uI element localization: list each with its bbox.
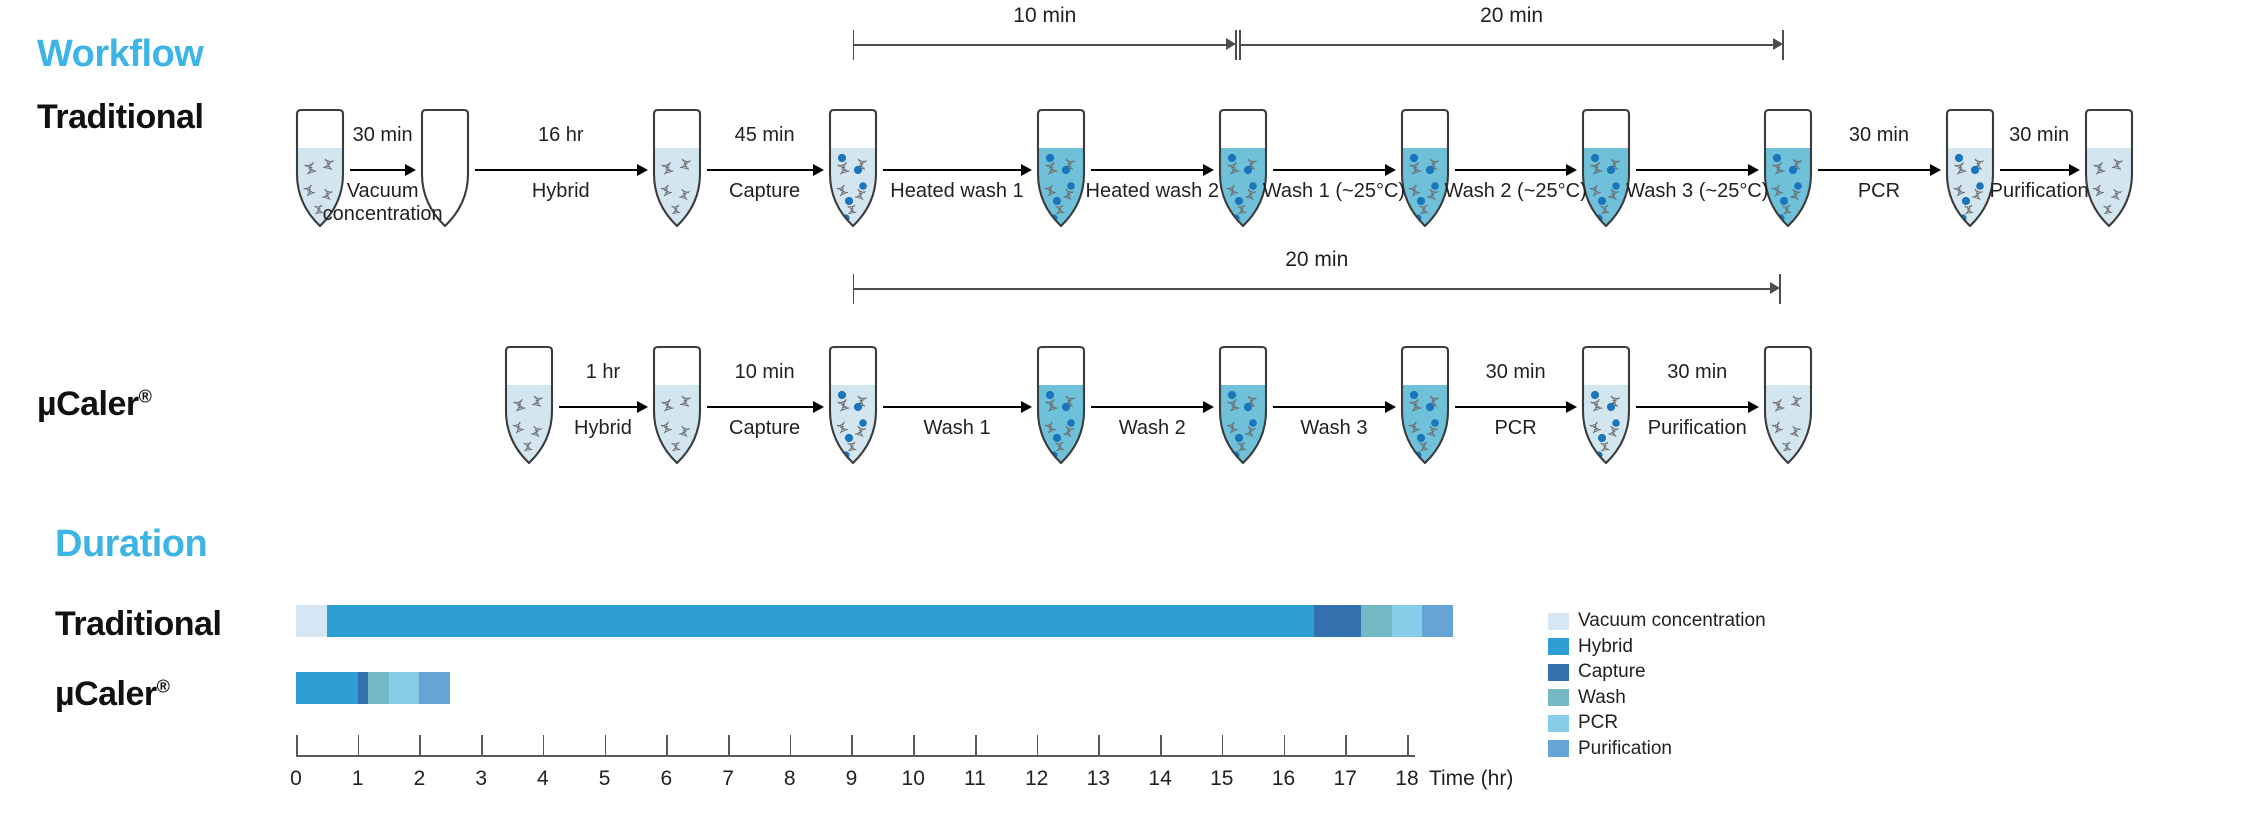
- axis-tick-10: [913, 735, 915, 755]
- axis-label-2: 2: [397, 767, 441, 791]
- legend-item-purification: Purification: [1548, 738, 1672, 760]
- axis-tick-4: [543, 735, 545, 755]
- arrow-traditional-3: [883, 164, 1032, 176]
- gantt-segment-capture: [358, 672, 368, 704]
- legend-item-hybrid: Hybrid: [1548, 636, 1633, 658]
- gantt-bar-traditional: [296, 605, 1453, 637]
- legend-swatch: [1548, 664, 1569, 681]
- steptime-traditional-1: 16 hr: [461, 124, 661, 147]
- stepname-traditional-9: Purification: [1924, 180, 2154, 203]
- gantt-segment-pcr: [1392, 605, 1423, 637]
- time-axis-line: [296, 755, 1415, 757]
- arrow-ucaler-5: [1455, 401, 1577, 413]
- gantt-segment-purification: [1422, 605, 1453, 637]
- legend-label: Wash: [1578, 687, 1626, 709]
- axis-tick-1: [358, 735, 360, 755]
- axis-label-5: 5: [583, 767, 627, 791]
- steptime-traditional-0: 30 min: [283, 124, 483, 147]
- axis-tick-7: [728, 735, 730, 755]
- legend-label: PCR: [1578, 712, 1618, 734]
- arrow-ucaler-0: [559, 401, 646, 413]
- axis-tick-0: [296, 735, 298, 755]
- bracket-label: 20 min: [1239, 4, 1784, 28]
- legend-item-capture: Capture: [1548, 661, 1646, 683]
- axis-label-7: 7: [706, 767, 750, 791]
- legend-swatch: [1548, 740, 1569, 757]
- legend-label: Hybrid: [1578, 636, 1633, 658]
- gantt-segment-wash: [368, 672, 388, 704]
- bracket-traditional-20min: 20 min: [1239, 28, 1784, 62]
- axis-label-16: 16: [1262, 767, 1306, 791]
- duration-section-title: Duration: [55, 523, 207, 566]
- registered-mark: ®: [157, 677, 170, 697]
- gantt-bar-ucaler: [296, 672, 450, 704]
- axis-tick-17: [1345, 735, 1347, 755]
- legend-swatch: [1548, 613, 1569, 630]
- bracket-label: 20 min: [853, 248, 1781, 272]
- arrow-traditional-2: [707, 164, 823, 176]
- legend-label: Vacuum concentration: [1578, 610, 1766, 632]
- arrow-ucaler-4: [1273, 401, 1395, 413]
- legend-swatch: [1548, 689, 1569, 706]
- axis-label-3: 3: [459, 767, 503, 791]
- axis-label-0: 0: [274, 767, 318, 791]
- arrow-traditional-5: [1273, 164, 1395, 176]
- axis-label-13: 13: [1076, 767, 1120, 791]
- bracket-traditional-10min: 10 min: [853, 28, 1238, 62]
- gantt-segment-hybrid: [327, 605, 1315, 637]
- arrow-traditional-0: [350, 164, 414, 176]
- stepname-ucaler-1: Capture: [655, 417, 875, 440]
- axis-label-10: 10: [891, 767, 935, 791]
- axis-tick-18: [1407, 735, 1409, 755]
- ucaler-text: µCaler: [55, 675, 157, 713]
- bracket-ucaler-20min: 20 min: [853, 272, 1781, 306]
- axis-label-11: 11: [953, 767, 997, 791]
- legend-item-pcr: PCR: [1548, 712, 1618, 734]
- tube-ucaler-3: [1035, 345, 1087, 465]
- axis-tick-16: [1284, 735, 1286, 755]
- axis-label-18: 18: [1385, 767, 1429, 791]
- legend-swatch: [1548, 715, 1569, 732]
- axis-label-9: 9: [829, 767, 873, 791]
- axis-tick-3: [481, 735, 483, 755]
- ucaler-text: µCaler: [37, 385, 139, 423]
- axis-tick-6: [666, 735, 668, 755]
- axis-label-8: 8: [768, 767, 812, 791]
- axis-tick-14: [1160, 735, 1162, 755]
- steptime-ucaler-5: 30 min: [1416, 361, 1616, 384]
- axis-tick-8: [790, 735, 792, 755]
- axis-label-6: 6: [644, 767, 688, 791]
- gantt-segment-vacuum-concentration: [296, 605, 327, 637]
- arrow-ucaler-1: [707, 401, 823, 413]
- axis-label-12: 12: [1015, 767, 1059, 791]
- arrow-traditional-1: [475, 164, 647, 176]
- axis-tick-15: [1222, 735, 1224, 755]
- axis-label-4: 4: [521, 767, 565, 791]
- legend-item-vacuum-concentration: Vacuum concentration: [1548, 610, 1766, 632]
- stepname-traditional-0: Vacuum concentration: [298, 180, 468, 226]
- axis-label-14: 14: [1138, 767, 1182, 791]
- arrow-ucaler-2: [883, 401, 1032, 413]
- tube-traditional-5: [1217, 108, 1269, 228]
- arrow-traditional-9: [2000, 164, 2079, 176]
- workflow-section-title: Workflow: [37, 33, 203, 76]
- workflow-row-label-traditional: Traditional: [37, 98, 203, 137]
- arrow-ucaler-6: [1636, 401, 1758, 413]
- tube-traditional-4: [1035, 108, 1087, 228]
- axis-tick-9: [851, 735, 853, 755]
- duration-row-label-traditional: Traditional: [55, 605, 221, 644]
- axis-tick-2: [419, 735, 421, 755]
- axis-label-1: 1: [336, 767, 380, 791]
- tube-ucaler-4: [1217, 345, 1269, 465]
- legend-swatch: [1548, 638, 1569, 655]
- gantt-segment-hybrid: [296, 672, 358, 704]
- gantt-segment-capture: [1314, 605, 1360, 637]
- gantt-segment-wash: [1361, 605, 1392, 637]
- axis-tick-5: [605, 735, 607, 755]
- axis-label-17: 17: [1323, 767, 1367, 791]
- arrow-traditional-4: [1091, 164, 1213, 176]
- steptime-traditional-9: 30 min: [1939, 124, 2139, 147]
- bracket-label: 10 min: [853, 4, 1238, 28]
- legend-label: Purification: [1578, 738, 1672, 760]
- registered-mark: ®: [139, 387, 152, 407]
- gantt-segment-purification: [419, 672, 450, 704]
- arrow-traditional-6: [1455, 164, 1577, 176]
- axis-tick-11: [975, 735, 977, 755]
- legend-label: Capture: [1578, 661, 1646, 683]
- stepname-ucaler-6: Purification: [1587, 417, 1807, 440]
- stepname-ucaler-2: Wash 1: [847, 417, 1067, 440]
- tube-traditional-7: [1580, 108, 1632, 228]
- steptime-ucaler-6: 30 min: [1597, 361, 1797, 384]
- tube-traditional-6: [1399, 108, 1451, 228]
- steptime-traditional-2: 45 min: [665, 124, 865, 147]
- workflow-row-label-ucaler: µCaler®: [37, 385, 151, 424]
- legend-item-wash: Wash: [1548, 687, 1626, 709]
- arrow-ucaler-3: [1091, 401, 1213, 413]
- arrow-traditional-8: [1818, 164, 1940, 176]
- axis-tick-13: [1098, 735, 1100, 755]
- axis-title-time: Time (hr): [1429, 767, 1513, 791]
- stepname-traditional-1: Hybrid: [446, 180, 676, 203]
- steptime-ucaler-1: 10 min: [665, 361, 865, 384]
- axis-label-15: 15: [1200, 767, 1244, 791]
- axis-tick-12: [1037, 735, 1039, 755]
- arrow-traditional-7: [1636, 164, 1758, 176]
- gantt-segment-pcr: [389, 672, 420, 704]
- duration-row-label-ucaler: µCaler®: [55, 675, 169, 714]
